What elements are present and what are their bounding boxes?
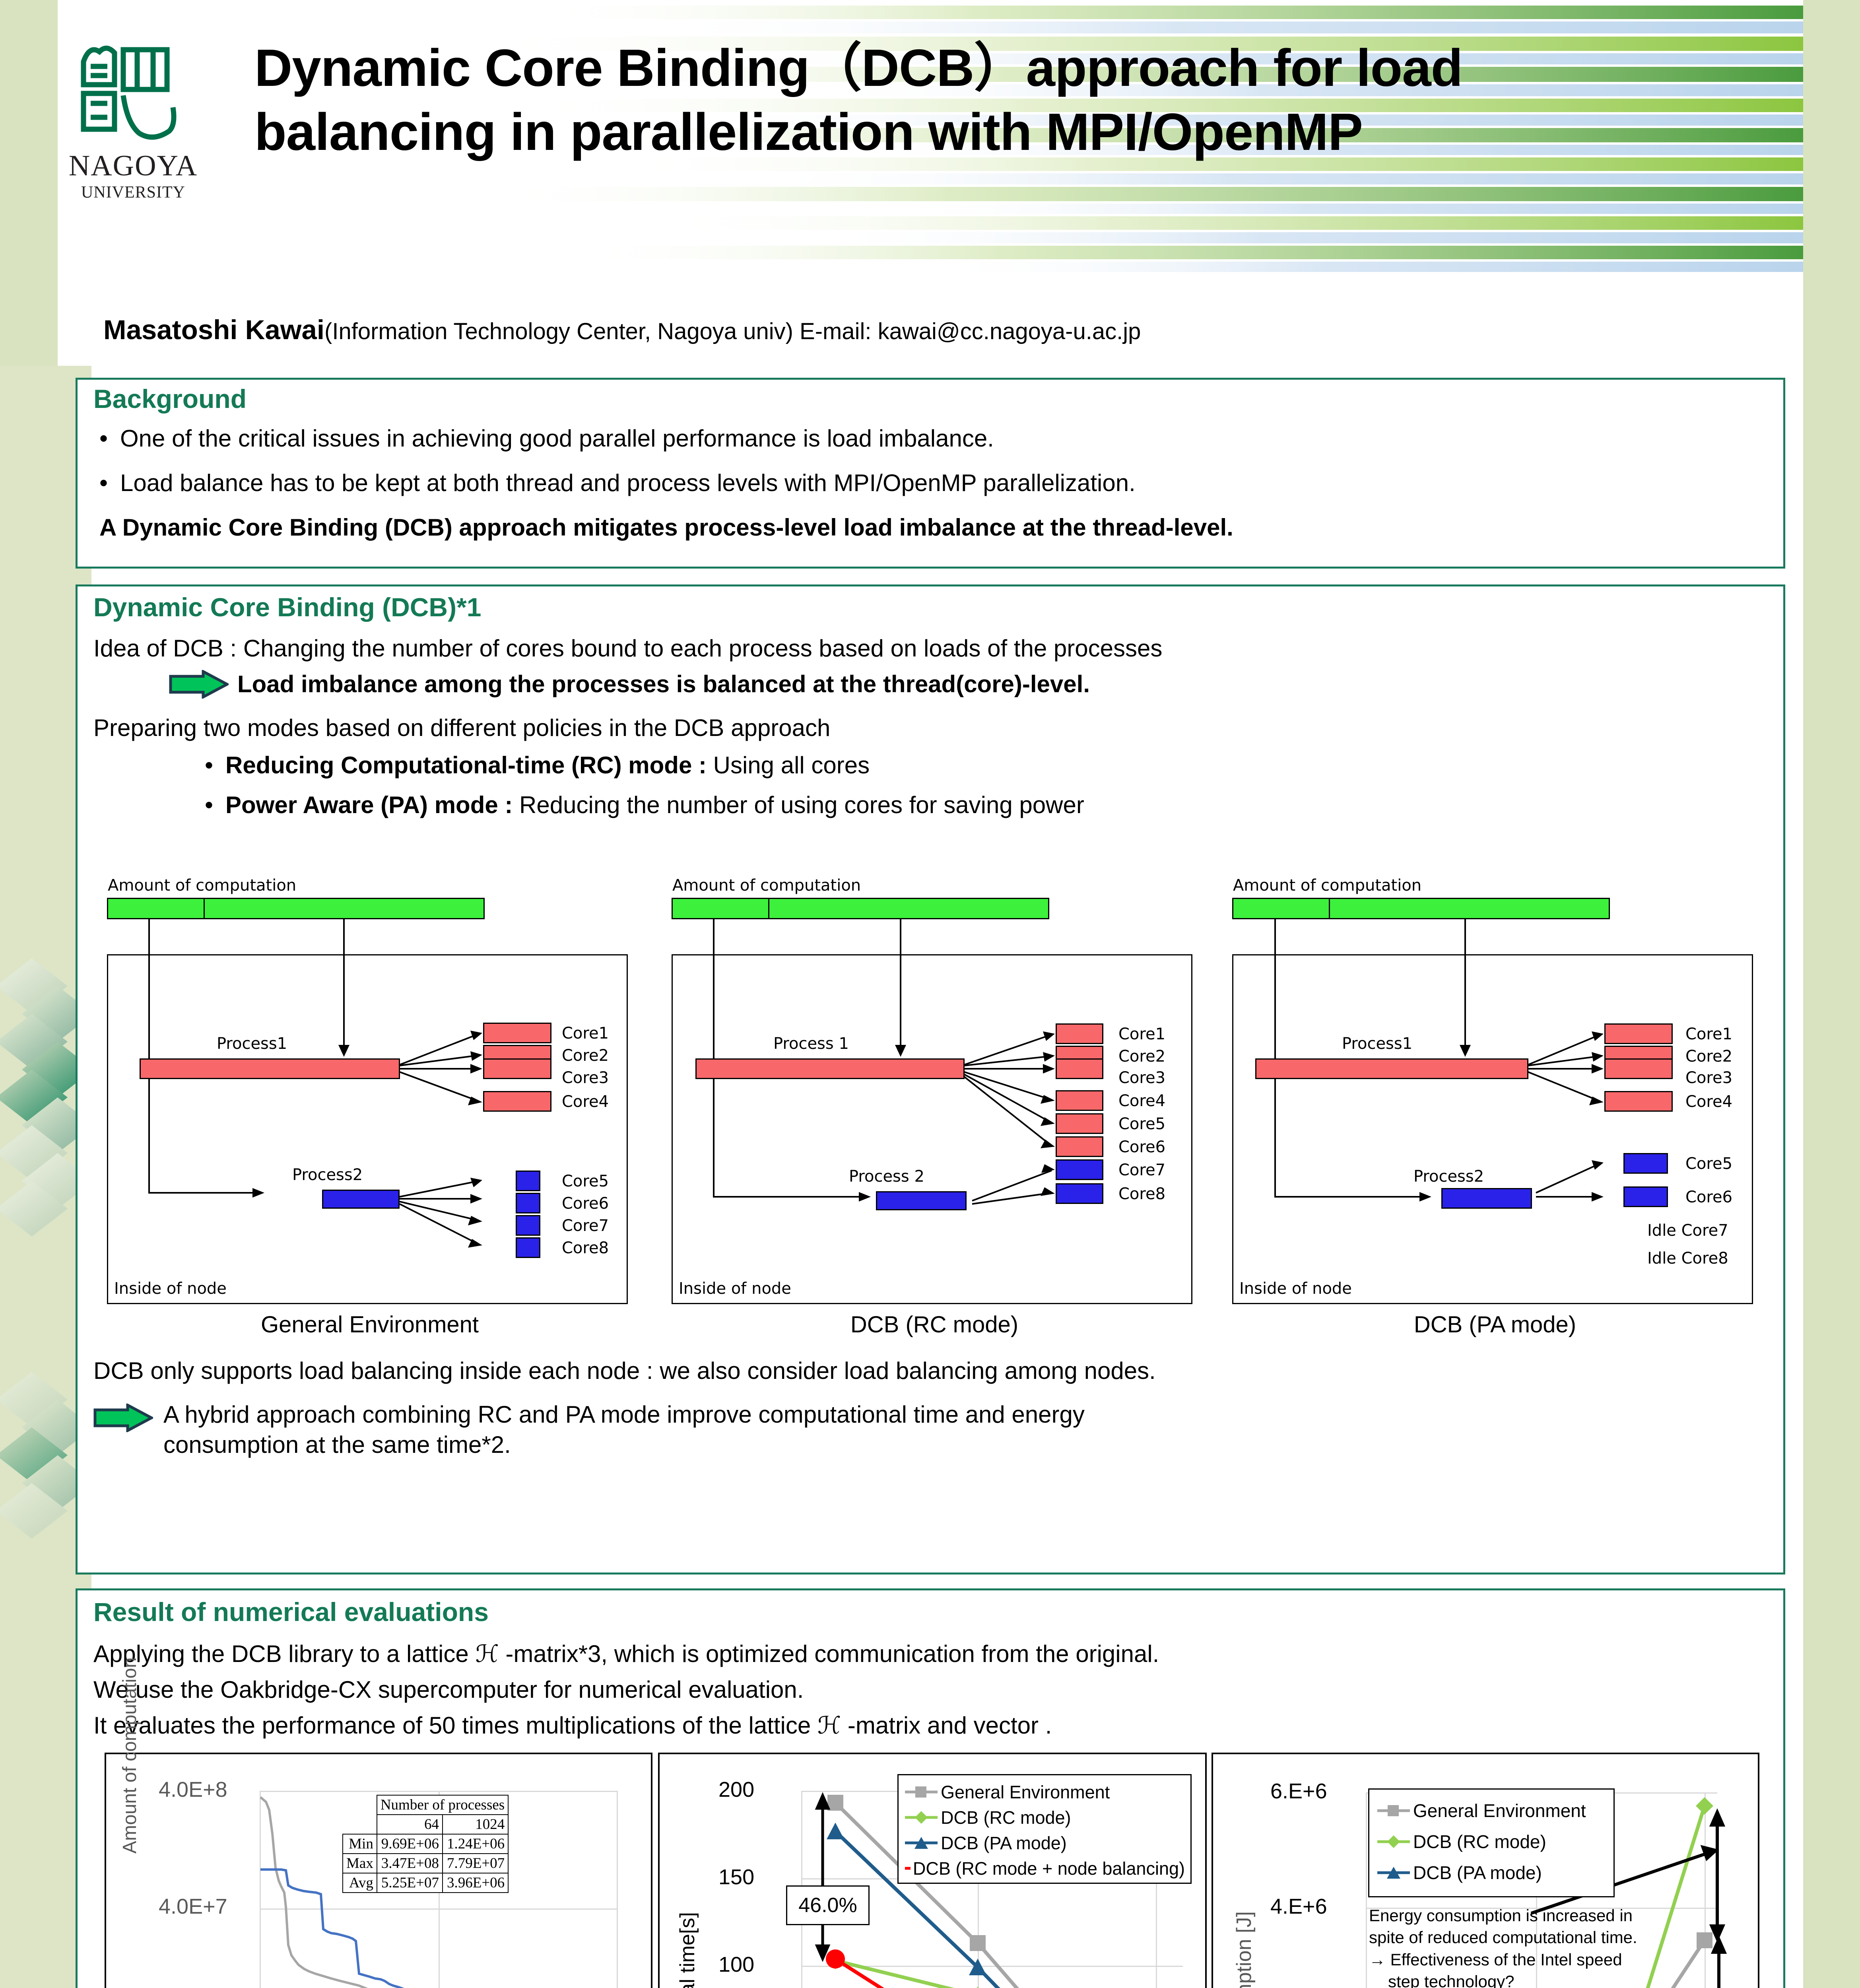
background-heading: Background — [93, 384, 247, 414]
chart-3-note: Energy consumption is increased in spite… — [1369, 1905, 1637, 1988]
table-row: Avg 5.25E+07 3.96E+06 — [343, 1873, 508, 1893]
diagram-2-core-5-label: Core5 — [1118, 1115, 1165, 1133]
diagram-3-core-6-box — [1623, 1186, 1668, 1207]
logo-university-text: UNIVERSITY — [40, 183, 227, 202]
author-line: Masatoshi Kawai(Information Technology C… — [103, 314, 1797, 346]
bullet-icon: • — [205, 750, 225, 780]
dcb-hybrid-text: A hybrid approach combining RC and PA mo… — [163, 1400, 1738, 1460]
background-statement: A Dynamic Core Binding (DCB) approach mi… — [99, 513, 1777, 543]
table-row: Min 9.69E+06 1.24E+06 — [343, 1834, 508, 1854]
poster-title-line-2: balancing in parallelization with MPI/Op… — [254, 100, 1797, 164]
dcb-hybrid-line-1: A hybrid approach combining RC and PA mo… — [163, 1401, 1085, 1428]
diagram-3-core-5-label: Core5 — [1685, 1155, 1732, 1173]
chart-3-note-line-3: → Effectiveness of the Intel speed — [1369, 1949, 1637, 1971]
legend-triangle-marker-icon — [904, 1836, 938, 1850]
bullet-icon: • — [205, 790, 225, 820]
diagram-3-core-3-label: Core3 — [1685, 1069, 1732, 1087]
diagram-1-core-5-label: Core5 — [562, 1172, 609, 1190]
legend-diamond-marker-icon — [1377, 1835, 1411, 1849]
dcb-hybrid-line-2: consumption at the same time*2. — [163, 1431, 511, 1458]
diagram-3-core-6-label: Core6 — [1685, 1188, 1732, 1206]
legend-circle-marker-icon — [904, 1861, 911, 1875]
diagram-3-core-2-label: Core2 — [1685, 1047, 1732, 1066]
dcb-mode-rc: • Reducing Computational-time (RC) mode … — [205, 750, 1755, 780]
table-row: 64 1024 — [343, 1815, 508, 1834]
chart-computational-time: Computational time[s] 200 150 100 50 0 — [658, 1753, 1207, 1988]
dcb-mode-pa-desc: Reducing the number of using cores for s… — [513, 792, 1084, 818]
legend-diamond-marker-icon — [904, 1810, 938, 1825]
chart-2-legend-item-0: General Environment — [904, 1779, 1185, 1805]
diagram-2-core-2-label: Core2 — [1118, 1047, 1165, 1066]
table-cell-avg-64: 5.25E+07 — [377, 1873, 443, 1893]
dcb-section: Dynamic Core Binding (DCB)*1 Idea of DCB… — [76, 584, 1785, 1574]
diagram-2-core-3-label: Core3 — [1118, 1069, 1165, 1087]
chart-3-note-line-2: spite of reduced computational time. — [1369, 1926, 1637, 1948]
dcb-modes-intro: Preparing two modes based on different p… — [93, 713, 1771, 743]
chart-1-summary-table: Number of processes 64 1024 Min 9.69E+06… — [342, 1795, 509, 1893]
diagram-3-core-1-label: Core1 — [1685, 1025, 1732, 1043]
diagram-1-core-8-label: Core8 — [562, 1239, 609, 1257]
diagram-3-caption: DCB (PA mode) — [1231, 1311, 1759, 1338]
diagram-3-process1-bar — [1255, 1058, 1528, 1079]
diagram-2-core-7-box — [1056, 1159, 1103, 1180]
results-line-3: It evaluates the performance of 50 times… — [93, 1710, 1052, 1741]
diagram-3-process2-label: Process2 — [1413, 1167, 1484, 1186]
table-row-label-avg: Avg — [343, 1873, 377, 1893]
diagram-1-core-7-box — [516, 1215, 540, 1236]
diagram-1-process1-label: Process1 — [217, 1035, 287, 1053]
diagram-2-core-8-label: Core8 — [1118, 1185, 1165, 1203]
diagram-2-core-8-box — [1056, 1183, 1103, 1204]
dcb-mode-rc-label: Reducing Computational-time (RC) mode : — [225, 752, 707, 779]
diagram-1-core-6-box — [516, 1193, 540, 1213]
table-col-header-64: 64 — [377, 1815, 443, 1834]
table-row: Max 3.47E+08 7.79E+07 — [343, 1854, 508, 1873]
dcb-idea: Idea of DCB : Changing the number of cor… — [93, 633, 1771, 664]
results-line-2: We use the Oakbridge-CX supercomputer fo… — [93, 1675, 804, 1705]
chart-2-legend-label-2: DCB (PA mode) — [941, 1834, 1067, 1852]
diagram-2-process1-bar — [695, 1058, 965, 1079]
table-cell-avg-1024: 3.96E+06 — [443, 1873, 508, 1893]
dcb-hybrid-row: A hybrid approach combining RC and PA mo… — [93, 1400, 1738, 1460]
diagram-3-core-4-label: Core4 — [1685, 1093, 1732, 1111]
diagram-1-core-5-box — [516, 1171, 540, 1191]
diagram-general-environment: Amount of computation — [105, 879, 658, 1316]
diagram-dcb-rc-mode: Amount of computation — [670, 879, 1223, 1316]
poster-title: Dynamic Core Binding（DCB）approach for lo… — [254, 36, 1797, 164]
chart-2-legend-item-2: DCB (PA mode) — [904, 1830, 1185, 1856]
dcb-arrow-statement: Load imbalance among the processes is ba… — [237, 669, 1090, 699]
diagram-1-node-label: Inside of node — [114, 1279, 227, 1298]
table-row-label-max: Max — [343, 1854, 377, 1873]
diagram-2-process1-label: Process 1 — [773, 1035, 849, 1053]
diagram-3-core-7-label: Idle Core7 — [1647, 1221, 1728, 1240]
diagram-1-process2-label: Process2 — [292, 1166, 363, 1184]
diagram-2-core-6-box — [1056, 1136, 1103, 1157]
chart-3-legend-label-1: DCB (RC mode) — [1413, 1833, 1546, 1851]
poster-root: NAGOYA UNIVERSITY Dynamic Core Binding（D… — [0, 0, 1860, 1988]
green-arrow-icon — [93, 1404, 153, 1432]
diagram-1-process1-bar — [140, 1058, 400, 1079]
chart-2-annotation-46: 46.0% — [786, 1885, 870, 1925]
chart-2-legend-item-3: DCB (RC mode + node balancing) — [904, 1856, 1185, 1881]
diagram-1-core-3-label: Core3 — [562, 1069, 609, 1087]
poster-title-line-1: Dynamic Core Binding（DCB）approach for lo… — [254, 36, 1797, 100]
chart-3-legend-label-0: General Environment — [1413, 1802, 1586, 1820]
background-bullet-1-text: One of the critical issues in achieving … — [120, 423, 994, 454]
diagram-2-core-1-box — [1056, 1023, 1103, 1044]
bullet-icon: • — [99, 423, 120, 454]
legend-square-marker-icon — [1377, 1804, 1411, 1818]
diagram-3-core-8-label: Idle Core8 — [1647, 1249, 1728, 1268]
background-bullet-2: • Load balance has to be kept at both th… — [99, 468, 1769, 498]
diagram-1-core-6-label: Core6 — [562, 1194, 609, 1213]
chart-3-note-line-4: step technology? — [1388, 1971, 1637, 1988]
table-header-span: Number of processes — [377, 1795, 508, 1815]
diagram-2-core-3-box — [1056, 1058, 1103, 1079]
chart-3-note-line-1: Energy consumption is increased in — [1369, 1905, 1637, 1926]
dcb-arrow-statement-row: Load imbalance among the processes is ba… — [169, 669, 1090, 699]
diagram-1-process2-bar — [322, 1190, 400, 1209]
diagram-2-node-label: Inside of node — [679, 1279, 791, 1298]
diagram-1-core-1-box — [483, 1023, 551, 1043]
table-corner-cell — [343, 1795, 377, 1815]
background-bullet-2-text: Load balance has to be kept at both thre… — [120, 468, 1136, 498]
results-section: Result of numerical evaluations Applying… — [76, 1588, 1785, 1988]
diagram-1-core-2-label: Core2 — [562, 1046, 609, 1065]
chart-3-legend: General Environment DCB (RC mode) DCB (P… — [1368, 1788, 1615, 1897]
diagram-2-core-4-label: Core4 — [1118, 1092, 1165, 1110]
chart-2-legend-label-3: DCB (RC mode + node balancing) — [913, 1860, 1185, 1877]
diagram-1-core-4-label: Core4 — [562, 1093, 609, 1111]
diagram-1-core-7-label: Core7 — [562, 1217, 609, 1235]
diagram-2-process2-label: Process 2 — [849, 1167, 924, 1186]
diagram-3-core-1-box — [1604, 1023, 1673, 1044]
legend-square-marker-icon — [904, 1785, 938, 1799]
nagoya-university-crest-icon — [68, 38, 191, 153]
table-cell-max-64: 3.47E+08 — [377, 1854, 443, 1873]
diagram-3-node-label: Inside of node — [1239, 1279, 1352, 1298]
diagram-1-core-1-label: Core1 — [562, 1024, 609, 1043]
dcb-mode-pa: • Power Aware (PA) mode : Reducing the n… — [205, 790, 1755, 820]
diagram-2-caption: DCB (RC mode) — [670, 1311, 1199, 1338]
diagram-1-core-4-box — [483, 1091, 551, 1112]
dcb-heading: Dynamic Core Binding (DCB)*1 — [93, 592, 481, 622]
results-line-1: Applying the DCB library to a lattice ℋ … — [93, 1639, 1159, 1669]
chart-3-legend-item-1: DCB (RC mode) — [1377, 1826, 1606, 1857]
background-bullet-1: • One of the critical issues in achievin… — [99, 423, 1769, 454]
dcb-note: DCB only supports load balancing inside … — [93, 1356, 1771, 1386]
table-cell-max-1024: 7.79E+07 — [443, 1854, 508, 1873]
chart-2-legend-item-1: DCB (RC mode) — [904, 1805, 1185, 1830]
diagram-1-core-8-box — [516, 1237, 540, 1258]
diagram-dcb-pa-mode: Amount of computation — [1231, 879, 1783, 1316]
chart-3-legend-item-0: General Environment — [1377, 1795, 1606, 1826]
table-col-header-1024: 1024 — [443, 1815, 508, 1834]
diagram-3-process1-label: Process1 — [1342, 1035, 1412, 1053]
diagram-2-core-1-label: Core1 — [1118, 1025, 1165, 1043]
results-heading: Result of numerical evaluations — [93, 1597, 489, 1627]
diagram-3-core-5-box — [1623, 1153, 1668, 1174]
dcb-mode-pa-label: Power Aware (PA) mode : — [225, 792, 513, 818]
chart-2-legend: General Environment DCB (RC mode) DCB (P… — [897, 1774, 1192, 1884]
chart-3-legend-item-2: DCB (PA mode) — [1377, 1857, 1606, 1888]
diagram-2-core-4-box — [1056, 1090, 1103, 1111]
table-cell-min-1024: 1.24E+06 — [443, 1834, 508, 1854]
chart-2-legend-label-0: General Environment — [941, 1783, 1110, 1801]
bullet-icon: • — [99, 468, 120, 498]
nagoya-university-wordmark: NAGOYA UNIVERSITY — [40, 151, 227, 202]
diagram-1-core-3-box — [483, 1058, 551, 1079]
author-affiliation: (Information Technology Center, Nagoya u… — [324, 318, 1141, 344]
table-cell-min-64: 9.69E+06 — [377, 1834, 443, 1854]
chart-energy-consumption: Energy Consumption [J] 6.E+6 4.E+6 2.E+6… — [1212, 1753, 1759, 1988]
table-row: Number of processes — [343, 1795, 508, 1815]
background-section: Background • One of the critical issues … — [76, 378, 1785, 569]
logo-nagoya-text: NAGOYA — [40, 151, 227, 181]
author-name: Masatoshi Kawai — [103, 315, 324, 345]
chart-2-legend-label-1: DCB (RC mode) — [941, 1809, 1071, 1827]
chart-load-imbalance: Amount of computation 4.0E+8 4.0E+7 4.0E… — [105, 1753, 652, 1988]
diagram-3-core-3-box — [1604, 1058, 1673, 1079]
dcb-mode-rc-desc: Using all cores — [707, 752, 870, 779]
table-row-label-min: Min — [343, 1834, 377, 1854]
chart-3-legend-label-2: DCB (PA mode) — [1413, 1864, 1542, 1882]
diagram-2-core-7-label: Core7 — [1118, 1161, 1165, 1179]
diagram-3-core-4-box — [1604, 1091, 1673, 1112]
diagram-1-caption: General Environment — [105, 1311, 634, 1338]
diagram-2-core-5-box — [1056, 1113, 1103, 1134]
legend-triangle-marker-icon — [1377, 1866, 1411, 1880]
diagram-3-process2-bar — [1441, 1188, 1532, 1209]
diagram-2-core-6-label: Core6 — [1118, 1138, 1165, 1156]
green-arrow-icon — [169, 670, 229, 699]
diagram-2-process2-bar — [876, 1191, 967, 1210]
